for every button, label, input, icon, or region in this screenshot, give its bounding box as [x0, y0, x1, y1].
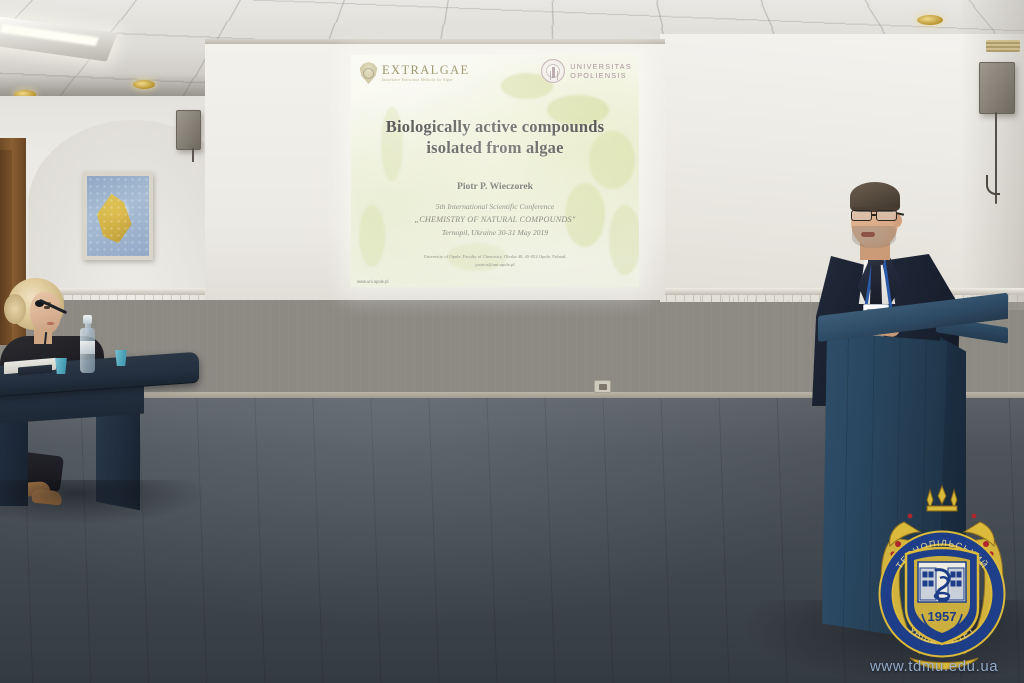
wall-speaker-right	[979, 62, 1015, 114]
watermark-url: www.tdmu.edu.ua	[870, 658, 1022, 675]
slide-logo-row: EXTRALGAE Innovative Extraction Methods …	[351, 58, 639, 92]
tdmu-watermark-logo: ТЕРНОПІЛЬСЬКИЙ УНІВЕРСИТЕТ	[866, 482, 1018, 682]
speaker-mouth	[861, 232, 875, 237]
wall-art-frame	[83, 172, 153, 260]
conference-line1: 5th International Scientific Conference	[351, 201, 639, 213]
slide-title-line2: isolated from algae	[351, 138, 639, 159]
slide-author: Piotr P. Wieczorek	[351, 181, 639, 192]
wall-power-outlet	[594, 380, 611, 393]
speaker-cable-left	[192, 148, 194, 162]
slide-url: www.uni.opole.pl	[357, 279, 388, 284]
slide-title-line1: Biologically active compounds	[351, 117, 639, 138]
ceiling-spotlight	[917, 15, 943, 25]
extralgae-tagline: Innovative Extraction Methods for Algae	[382, 78, 470, 82]
chairperson-lips	[47, 322, 54, 325]
opole-line1: UNIVERSITAS	[570, 62, 632, 71]
crest-emblem-icon	[359, 62, 378, 84]
universitas-opoliensis-logo: UNIVERSITAS OPOLIENSIS	[541, 59, 632, 83]
ceiling-spotlight	[133, 80, 155, 89]
opole-line2: OPOLIENSIS	[570, 71, 632, 80]
slide-title: Biologically active compounds isolated f…	[351, 117, 639, 159]
trident-icon	[927, 486, 957, 511]
air-conditioner-vent	[986, 40, 1020, 52]
footer-line2: pwiecz@uni.opole.pl	[351, 261, 639, 269]
slide-footer: University of Opole, Faculty of Chemistr…	[351, 253, 639, 269]
slide-conference-info: 5th International Scientific Conference …	[351, 201, 639, 239]
extralgae-wordmark: EXTRALGAE	[382, 64, 470, 77]
footer-line1: University of Opole, Faculty of Chemistr…	[351, 253, 639, 261]
wall-speaker-left	[176, 110, 201, 150]
lecture-hall-photo: EXTRALGAE Innovative Extraction Methods …	[0, 0, 1024, 683]
university-seal-icon	[541, 59, 565, 83]
presentation-slide: EXTRALGAE Innovative Extraction Methods …	[351, 55, 639, 287]
abstract-painting-icon	[87, 176, 149, 256]
cable-hook-icon	[986, 175, 1000, 195]
extralgae-logo: EXTRALGAE Innovative Extraction Methods …	[359, 62, 470, 84]
speaker-beard-shadow	[852, 226, 896, 248]
water-bottle	[80, 315, 95, 373]
table-floor-shadow	[0, 480, 205, 524]
conference-line3: Ternopil, Ukraine 30-31 May 2019	[351, 227, 639, 239]
conference-line2: „CHEMISTRY OF NATURAL COMPOUNDS"	[351, 213, 639, 226]
watermark-founded-year: 1957	[928, 609, 957, 624]
eyeglasses-icon	[849, 210, 901, 221]
chairperson-neck	[34, 330, 52, 344]
chairperson-face	[30, 292, 61, 334]
